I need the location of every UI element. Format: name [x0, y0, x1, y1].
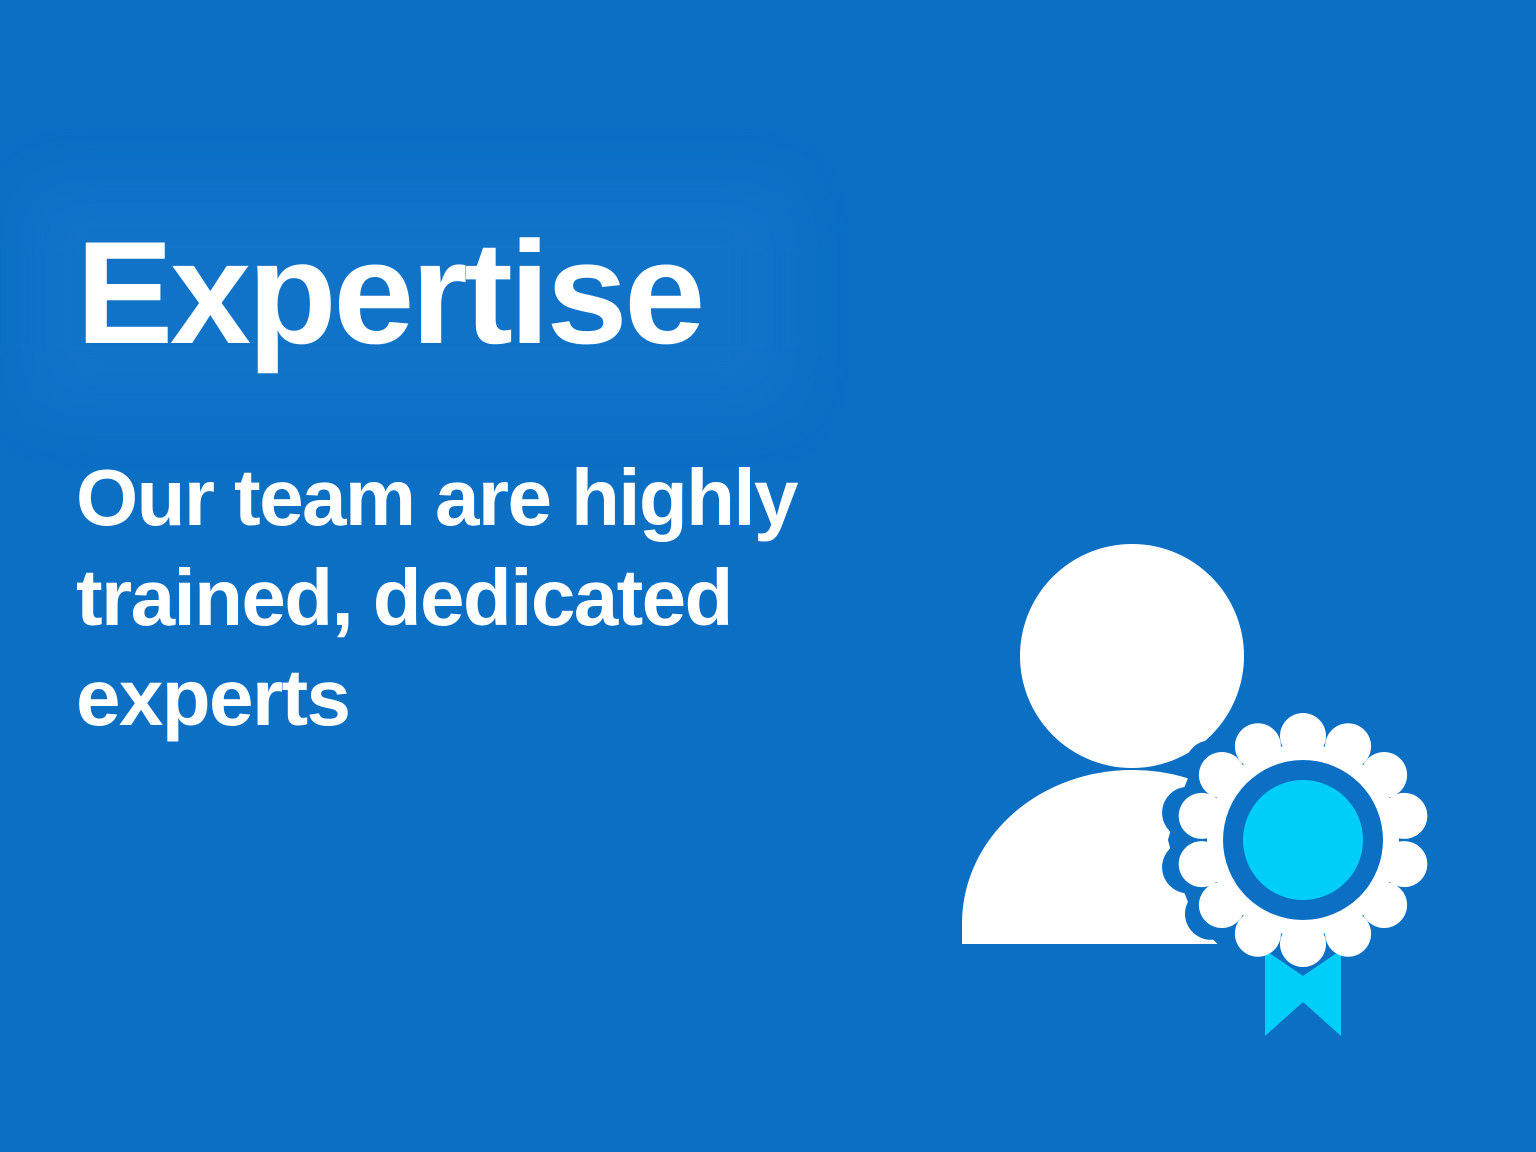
page-title: Expertise — [76, 218, 936, 368]
text-block: Expertise Our team are highly trained, d… — [76, 218, 936, 748]
expertise-slide: Expertise Our team are highly trained, d… — [0, 0, 1536, 1152]
badge-core — [1243, 780, 1363, 900]
subtitle-text: Our team are highly trained, dedicated e… — [76, 368, 906, 748]
certified-expert-icon — [930, 520, 1470, 1060]
